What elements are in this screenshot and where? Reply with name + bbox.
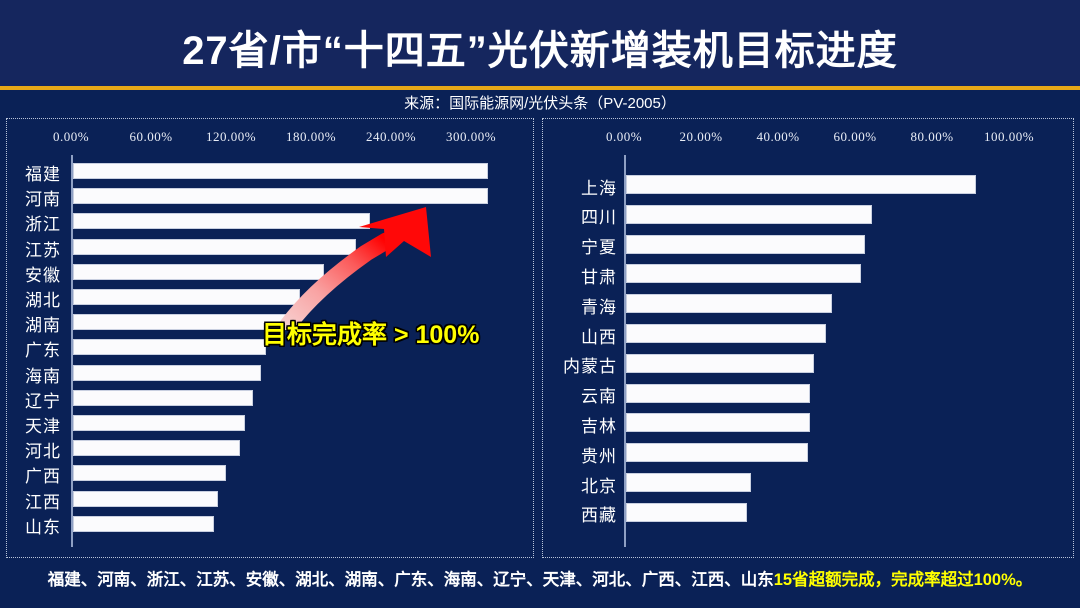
bar-category-label: 海南 [25,362,61,387]
footer-highlight: 15省超额完成，完成率超过100%。 [774,571,1033,589]
bar [626,205,872,224]
bar [73,491,218,507]
axis-tick-label: 100.00% [984,129,1034,145]
bar-category-label: 江苏 [25,236,61,261]
bar-category-label: 吉林 [581,412,617,437]
axis-tick-label: 80.00% [910,129,953,145]
bar-category-label: 山东 [25,513,61,538]
bar-category-label: 甘肃 [581,263,617,288]
left-chart-axis-labels: 0.00%60.00%120.00%180.00%240.00%300.00% [7,129,533,147]
bar [73,465,226,481]
bar [626,473,751,492]
axis-tick-label: 20.00% [679,129,722,145]
bar [626,443,808,462]
bar-category-label: 湖南 [25,311,61,336]
bar [626,503,747,522]
bar [626,384,810,403]
axis-tick-label: 240.00% [366,129,416,145]
bar [73,390,253,406]
bar [626,294,832,313]
slide-root: 27省/市“十四五”光伏新增装机目标进度 来源：国际能源网/光伏头条（PV-20… [0,0,1080,608]
bar [73,365,261,381]
axis-tick-label: 60.00% [129,129,172,145]
bar-category-label: 贵州 [581,442,617,467]
bar [626,413,810,432]
bar-category-label: 福建 [25,160,61,185]
right-chart-axis-labels: 0.00%20.00%40.00%60.00%80.00%100.00% [543,129,1073,147]
bar-category-label: 江西 [25,488,61,513]
axis-tick-label: 300.00% [446,129,496,145]
bar-category-label: 云南 [581,382,617,407]
bar-category-label: 河北 [25,437,61,462]
right-chart-plot-area: 上海四川宁夏甘肃青海山西内蒙古云南吉林贵州北京西藏 [543,155,1073,547]
curved-up-right-arrow-icon [280,205,480,330]
bar-category-label: 西藏 [581,501,617,526]
right-chart-panel: 0.00%20.00%40.00%60.00%80.00%100.00% 上海四… [542,118,1074,558]
bar-category-label: 天津 [25,412,61,437]
bar [626,324,826,343]
footer-summary: 福建、河南、浙江、江苏、安徽、湖北、湖南、广东、海南、辽宁、天津、河北、广西、江… [0,566,1080,590]
bar-category-label: 宁夏 [581,233,617,258]
axis-tick-label: 180.00% [286,129,336,145]
bar [73,440,240,456]
bar [626,354,814,373]
bar-category-label: 河南 [25,185,61,210]
axis-tick-label: 40.00% [756,129,799,145]
bar-category-label: 山西 [581,323,617,348]
bar [73,516,214,532]
bar-category-label: 广东 [25,336,61,361]
slide-header: 27省/市“十四五”光伏新增装机目标进度 [0,0,1080,88]
bar-category-label: 广西 [25,462,61,487]
axis-tick-label: 120.00% [206,129,256,145]
bar-category-label: 辽宁 [25,387,61,412]
bar [626,235,865,254]
bar [626,264,861,283]
axis-tick-label: 0.00% [606,129,642,145]
bar [73,415,245,431]
bar [626,175,976,194]
bar [73,289,300,305]
bar-category-label: 湖北 [25,286,61,311]
bar [73,339,266,355]
axis-tick-label: 60.00% [833,129,876,145]
annotation-target-rate: 目标完成率 > 100% [262,315,479,351]
gold-divider [0,86,1080,90]
bar-category-label: 青海 [581,293,617,318]
bar [73,188,488,204]
bar-category-label: 上海 [581,174,617,199]
bar-category-label: 浙江 [25,210,61,235]
page-title: 27省/市“十四五”光伏新增装机目标进度 [0,18,1080,76]
axis-tick-label: 0.00% [53,129,89,145]
bar-category-label: 安徽 [25,261,61,286]
bar-category-label: 四川 [581,203,617,228]
footer-province-list: 福建、河南、浙江、江苏、安徽、湖北、湖南、广东、海南、辽宁、天津、河北、广西、江… [48,571,774,589]
bar-category-label: 北京 [581,472,617,497]
bar-category-label: 内蒙古 [563,352,617,377]
bar [73,163,488,179]
source-attribution: 来源：国际能源网/光伏头条（PV-2005） [0,92,1080,113]
